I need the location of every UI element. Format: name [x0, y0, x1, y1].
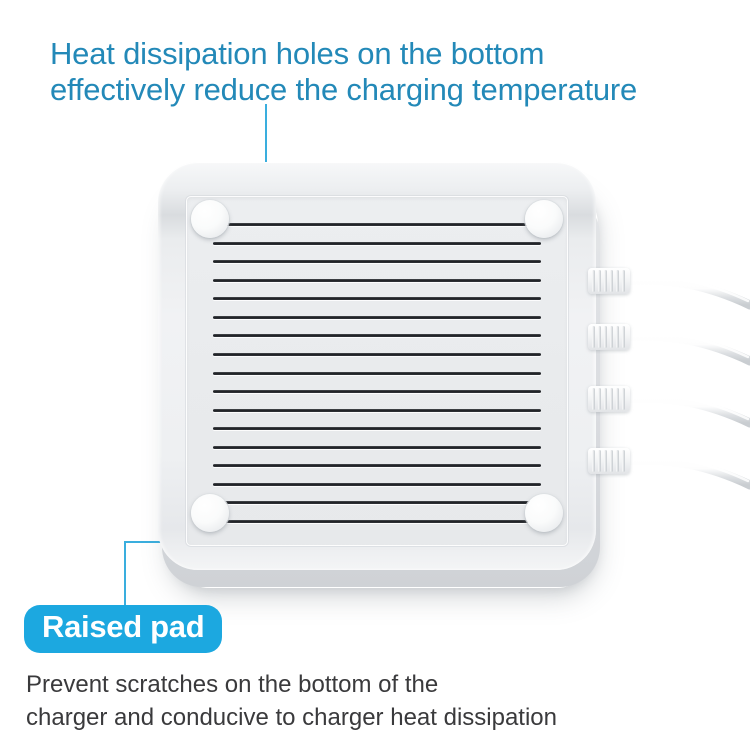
vent-slot [213, 390, 541, 393]
vent-slot [213, 353, 541, 356]
vent-slot [213, 242, 541, 245]
vent-slot [213, 483, 541, 486]
connector-rib [610, 388, 613, 410]
usb-cable-3 [588, 386, 630, 412]
raised-pad-badge: Raised pad [24, 605, 222, 653]
connector-rib [616, 270, 619, 292]
connector-rib [598, 270, 601, 292]
connector-rib [610, 326, 613, 348]
connector-rib [610, 270, 613, 292]
connector-rib [622, 270, 625, 292]
connector-rib [604, 326, 607, 348]
raised-pad-bottom-right [525, 494, 563, 532]
connector-rib [598, 326, 601, 348]
headline-line-2: effectively reduce the charging temperat… [50, 72, 740, 108]
usb-cable-group [588, 265, 750, 490]
vent-slot [213, 260, 541, 263]
device-body [158, 162, 596, 570]
description-line-1: Prevent scratches on the bottom of the [26, 668, 726, 701]
connector-rib [616, 450, 619, 472]
connector-rib [604, 270, 607, 292]
connector-rib [598, 388, 601, 410]
connector-rib [592, 270, 595, 292]
vent-slot [213, 427, 541, 430]
headline-heat-dissipation: Heat dissipation holes on the bottom eff… [50, 36, 740, 108]
headline-line-1: Heat dissipation holes on the bottom [50, 36, 740, 72]
connector-rib [622, 388, 625, 410]
vent-slot [213, 279, 541, 282]
connector-rib [604, 450, 607, 472]
connector-rib [592, 326, 595, 348]
leader-line-bottom-vertical [124, 541, 126, 614]
raised-pad-description: Prevent scratches on the bottom of the c… [26, 668, 726, 734]
raised-pad-top-left [191, 200, 229, 238]
vent-panel [186, 196, 568, 546]
description-line-2: charger and conducive to charger heat di… [26, 701, 726, 734]
connector-rib [592, 450, 595, 472]
connector-rib [622, 326, 625, 348]
connector-rib [622, 450, 625, 472]
raised-pad-bottom-left [191, 494, 229, 532]
connector-rib [598, 450, 601, 472]
raised-pad-top-right [525, 200, 563, 238]
vent-slot [213, 446, 541, 449]
usb-cable-4 [588, 448, 630, 474]
vent-slot [213, 520, 541, 523]
connector-rib [604, 388, 607, 410]
connector-rib [616, 326, 619, 348]
product-infographic: Heat dissipation holes on the bottom eff… [0, 0, 750, 750]
vent-slot [213, 409, 541, 412]
vent-slot [213, 297, 541, 300]
connector-rib [610, 450, 613, 472]
vent-slot [213, 223, 541, 226]
vent-slot [213, 334, 541, 337]
connector-rib [616, 388, 619, 410]
vent-slot-group [213, 223, 541, 523]
usb-cable-2 [588, 324, 630, 350]
vent-slot [213, 372, 541, 375]
usb-cable-1 [588, 268, 630, 294]
vent-slot [213, 464, 541, 467]
vent-slot [213, 316, 541, 319]
usb-charging-station-bottom-view [152, 155, 604, 595]
vent-slot [213, 501, 541, 504]
connector-rib [592, 388, 595, 410]
